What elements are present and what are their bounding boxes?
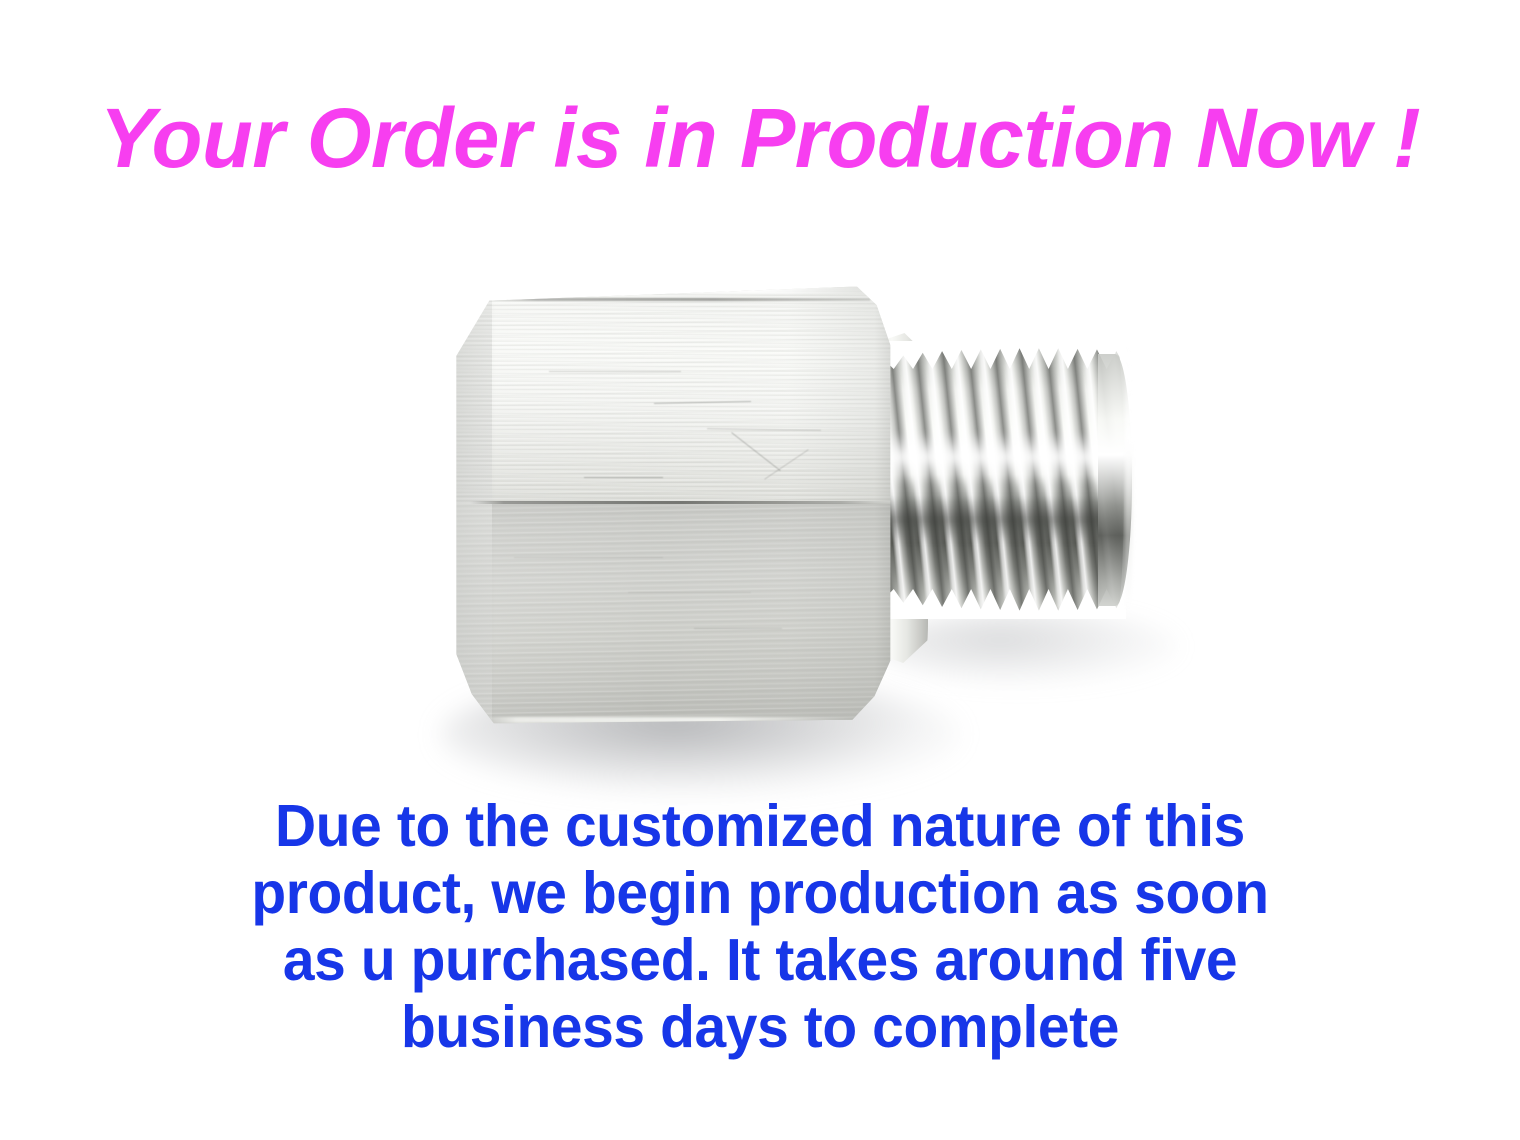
hex-body-shading	[452, 283, 892, 725]
product-photo	[0, 215, 1520, 775]
hex-body-surface	[452, 283, 892, 725]
description-line-2: product, we begin production as soon	[27, 860, 1494, 927]
description-line-3: as u purchased. It takes around five	[27, 927, 1494, 994]
thread-barrel	[886, 343, 1124, 617]
promo-banner: Your Order is in Production Now !	[0, 0, 1520, 1140]
thread-shadow-band	[886, 496, 1124, 543]
description-line-4: business days to complete	[27, 994, 1494, 1061]
thread-highlight	[886, 433, 1124, 482]
promo-description: Due to the customized nature of this pro…	[0, 793, 1520, 1061]
threaded-nipple	[886, 343, 1124, 617]
page-title: Your Order is in Production Now !	[8, 96, 1513, 180]
description-line-1: Due to the customized nature of this	[27, 793, 1494, 860]
thread-end-edge	[1125, 348, 1133, 611]
hex-body	[452, 283, 892, 725]
